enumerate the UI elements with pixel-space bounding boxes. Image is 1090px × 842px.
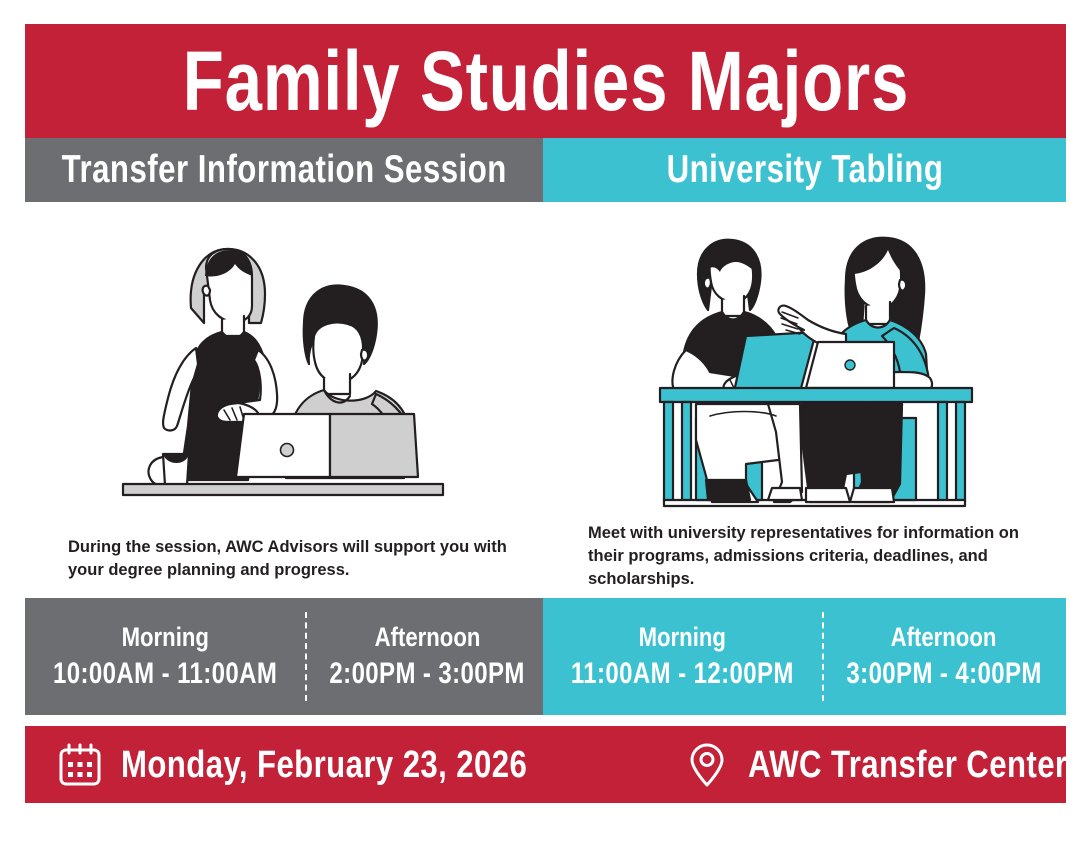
page-title: Family Studies Majors [182, 39, 908, 123]
schedule-slot-time: 2:00PM - 3:00PM [330, 658, 525, 690]
column-heading-label: University Tabling [666, 150, 943, 190]
two-people-at-laptop-illustration [118, 228, 448, 513]
event-location: AWC Transfer Center [748, 745, 1067, 785]
event-date: Monday, February 23, 2026 [121, 745, 527, 785]
schedule-slot-time: 11:00AM - 12:00PM [571, 658, 794, 690]
column-heading-label: Transfer Information Session [61, 150, 506, 190]
two-people-at-table-illustration [650, 232, 985, 514]
poster-footer: Monday, February 23, 2026 AWC Transfer C… [25, 726, 1066, 803]
footer-date-group: Monday, February 23, 2026 [57, 742, 616, 788]
schedule-slot-morning: Morning 10:00AM - 11:00AM [25, 598, 305, 715]
poster-title-bar: Family Studies Majors [25, 24, 1066, 138]
schedule-university-tabling: Morning 11:00AM - 12:00PM Afternoon 3:00… [543, 598, 1066, 715]
column-heading-transfer-information-session: Transfer Information Session [25, 138, 543, 202]
footer-location-group: AWC Transfer Center [684, 742, 1090, 788]
column-heading-university-tabling: University Tabling [543, 138, 1066, 202]
schedule-slot-time: 10:00AM - 11:00AM [53, 658, 277, 690]
location-pin-icon [684, 742, 730, 788]
calendar-icon [57, 742, 103, 788]
schedule-transfer-information-session: Morning 10:00AM - 11:00AM Afternoon 2:00… [25, 598, 543, 715]
schedule-slot-label: Morning [121, 623, 208, 652]
column-description-university-tabling: Meet with university representatives for… [588, 522, 1058, 591]
schedule-slot-morning: Morning 11:00AM - 12:00PM [543, 598, 822, 715]
column-description-transfer-information-session: During the session, AWC Advisors will su… [68, 536, 508, 582]
schedule-slot-label: Afternoon [375, 623, 481, 652]
schedule-slot-afternoon: Afternoon 2:00PM - 3:00PM [305, 598, 549, 715]
poster-root: Family Studies Majors Transfer Informati… [0, 0, 1090, 842]
schedule-slot-label: Afternoon [891, 623, 997, 652]
schedule-slot-label: Morning [639, 623, 726, 652]
schedule-slot-time: 3:00PM - 4:00PM [846, 658, 1041, 690]
schedule-slot-afternoon: Afternoon 3:00PM - 4:00PM [822, 598, 1066, 715]
